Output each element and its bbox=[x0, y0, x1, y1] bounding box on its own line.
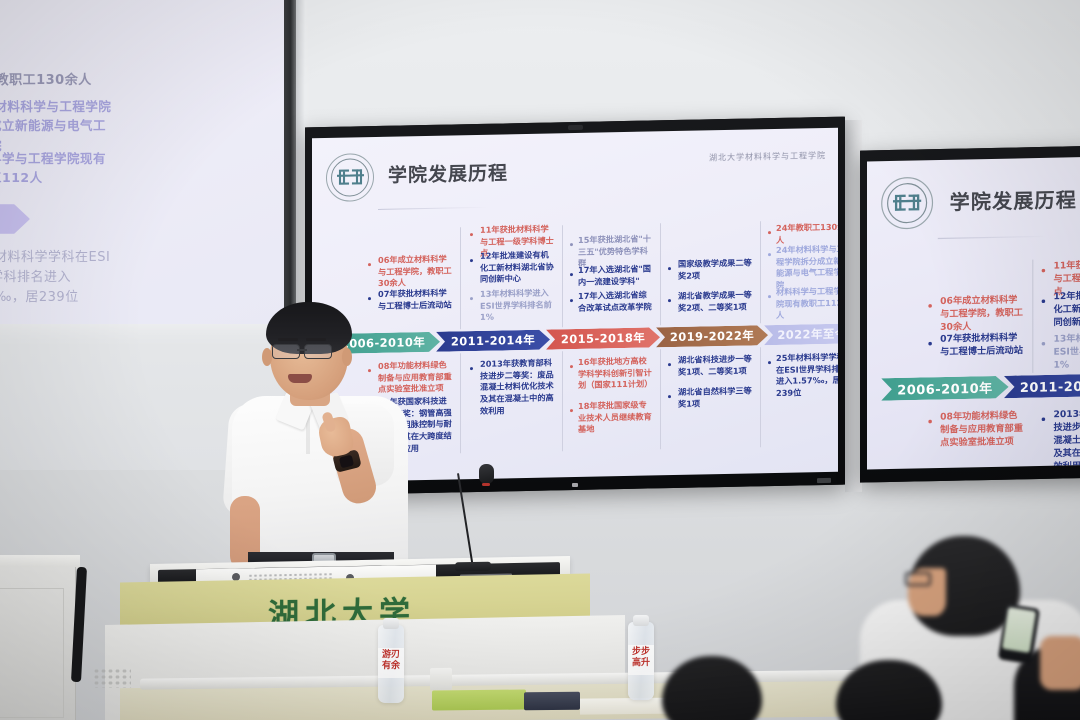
timeline-item: 湖北省教学成果一等奖2项、二等奖1项 bbox=[678, 289, 754, 314]
bottle-cap-right bbox=[633, 615, 649, 626]
camera-sensor-icon bbox=[568, 125, 583, 130]
eyeglasses-left-lens-icon bbox=[272, 344, 300, 359]
bullet-icon bbox=[668, 363, 671, 366]
emblem-glyph-icon bbox=[893, 189, 921, 218]
presenter-mouth bbox=[288, 374, 312, 383]
column-divider bbox=[460, 353, 461, 453]
header-rule bbox=[938, 236, 1047, 239]
bottle-label-text-left: 游刃有余 bbox=[378, 650, 404, 672]
timeline-item: 08年功能材料绿色制备与应用教育部重点实验室批准立项 bbox=[940, 408, 1025, 449]
bullet-icon bbox=[668, 299, 671, 302]
eyeglasses-right-lens-icon bbox=[304, 344, 332, 359]
presentation-slide-mirror: 学院发展历程 06年成立材料科学与工程学院，教职工30余人 07年获批材料科学与… bbox=[867, 157, 1080, 470]
timeline-item: 湖北省自然科学三等奖1项 bbox=[678, 385, 754, 410]
bullet-icon bbox=[570, 299, 573, 302]
microphone-capsule-icon bbox=[479, 464, 494, 484]
timeline-item: 2013年获教育部科技进步二等奖：废品混凝土材料优化技术及其在混凝土中的高效利用 bbox=[1053, 406, 1080, 469]
timeline-item: 17年入选湖北省"国内一流建设学科" bbox=[578, 263, 654, 288]
bullet-icon bbox=[768, 361, 771, 364]
lectern-keypad-icon[interactable] bbox=[93, 668, 131, 688]
bullet-icon bbox=[570, 365, 573, 368]
timeline-band-2015-2018[interactable]: 2015-2018年 bbox=[546, 327, 660, 349]
column-divider bbox=[460, 227, 461, 329]
projection-text-1: 24年教职工130余人 bbox=[0, 71, 113, 91]
timeline-item: 2013年获教育部科技进步二等奖：废品混凝土材料优化技术及其在混凝土中的高效利用 bbox=[480, 357, 556, 417]
timeline-item: 25年材料科学学科在ESI世界学科排名进入1.57‰，居239位 bbox=[776, 352, 838, 400]
bullet-icon bbox=[470, 367, 473, 370]
presenter-ear-left bbox=[262, 348, 272, 366]
timeline-item: 材料科学与工程学院现有教职工112人 bbox=[776, 286, 838, 322]
bullet-icon bbox=[1042, 417, 1046, 421]
bullet-icon bbox=[1042, 342, 1046, 346]
presenter-brow-right bbox=[306, 338, 326, 341]
timeline-band-2022-present[interactable]: 2022年至今 bbox=[764, 323, 838, 345]
timeline-item: 13年材料科学进入ESI世界学科排名前1% bbox=[1053, 331, 1080, 372]
bullet-icon bbox=[928, 304, 932, 308]
presenter-ear-right bbox=[342, 348, 352, 366]
bullet-icon bbox=[928, 420, 932, 424]
notebook-green[interactable] bbox=[432, 690, 526, 711]
projection-text-3: 材料科学与工程学院现有教职工112人 bbox=[0, 149, 113, 188]
timeline-item: 国家级教学成果二等奖2项 bbox=[678, 257, 754, 282]
secondary-display[interactable]: 学院发展历程 06年成立材料科学与工程学院，教职工30余人 07年获批材料科学与… bbox=[860, 145, 1080, 482]
bullet-icon bbox=[570, 273, 573, 276]
bullet-icon bbox=[768, 231, 771, 234]
brand-logo bbox=[817, 478, 831, 483]
timeline-item: 24年教职工130余人 bbox=[776, 222, 838, 247]
timeline-item: 13年材料科学进入ESI世界学科排名前1% bbox=[480, 287, 556, 323]
timeline-item: 湖北省科技进步一等奖1项、二等奖1项 bbox=[678, 353, 754, 378]
bullet-icon bbox=[470, 233, 473, 236]
projection-screen-frame bbox=[284, 0, 296, 315]
bullet-icon bbox=[470, 259, 473, 262]
header-rule bbox=[378, 207, 488, 210]
lecture-hall-photo: 24年教职工130余人 24年材料科学与工程学院拆分成立新能源与电气工程学院 材… bbox=[0, 0, 1080, 720]
bullet-icon bbox=[1042, 269, 1046, 273]
secondary-display-screen: 学院发展历程 06年成立材料科学与工程学院，教职工30余人 07年获批材料科学与… bbox=[867, 157, 1080, 470]
timeline-band-2011-2014[interactable]: 2011-2014年 bbox=[1004, 373, 1080, 398]
bullet-icon bbox=[668, 395, 671, 398]
column-divider bbox=[562, 225, 563, 327]
slide-title: 学院发展历程 bbox=[388, 158, 508, 187]
emblem-glyph-icon bbox=[337, 164, 364, 191]
timeline-item: 16年获批地方高校学科学科创新引智计划（国家111计划） bbox=[578, 355, 654, 391]
timeline-band-2011-2014[interactable]: 2011-2014年 bbox=[436, 330, 550, 352]
slide-org-header: 湖北大学材料科学与工程学院 bbox=[709, 150, 826, 163]
presenter bbox=[228, 300, 413, 600]
projection-screen-frame-edge bbox=[296, 0, 305, 315]
timeline-item: 18年获批国家级专业技术人员继续教育基地 bbox=[578, 399, 654, 435]
bullet-icon bbox=[1042, 299, 1046, 303]
bullet-icon bbox=[570, 243, 573, 246]
timeline-band-2019-2022[interactable]: 2019-2022年 bbox=[656, 325, 768, 347]
microphone-indicator-ring bbox=[482, 483, 490, 486]
bullet-icon bbox=[928, 342, 932, 346]
column-divider bbox=[760, 347, 761, 447]
column-divider bbox=[660, 223, 661, 325]
column-divider bbox=[760, 221, 761, 323]
column-divider bbox=[660, 349, 661, 449]
bottle-cap-left bbox=[383, 618, 399, 629]
bullet-icon bbox=[768, 295, 771, 298]
bullet-icon bbox=[368, 263, 371, 266]
slide-title: 学院发展历程 bbox=[950, 183, 1077, 215]
projection-text-4: 25年材料科学学科在ESI世界学科排名进入1.57‰，居239位 bbox=[0, 248, 113, 308]
timeline-item: 17年入选湖北省综合改革试点改革学院 bbox=[578, 289, 654, 314]
bullet-icon bbox=[668, 267, 671, 270]
audience-hand bbox=[1040, 636, 1080, 690]
timeline-item: 12年批准建设有机化工新材料湖北省协同创新中心 bbox=[1053, 288, 1080, 329]
bullet-icon bbox=[470, 297, 473, 300]
projection-text-2: 24年材料科学与工程学院拆分成立新能源与电气工程学院 bbox=[0, 97, 115, 155]
power-led-icon bbox=[572, 483, 578, 487]
side-cabinet-door[interactable] bbox=[0, 588, 64, 718]
notebook-dark[interactable] bbox=[524, 692, 580, 711]
bullet-icon bbox=[570, 409, 573, 412]
timeline-item: 06年成立材料科学与工程学院，教职工30余人 bbox=[940, 293, 1025, 334]
bottle-label-text-right: 步步高升 bbox=[628, 647, 654, 669]
microphone-base bbox=[455, 562, 491, 572]
bullet-icon bbox=[768, 253, 771, 256]
projection-chevron-current: 2022年至今 bbox=[0, 204, 30, 234]
timeline-item: 12年批准建设有机化工新材料湖北省协同创新中心 bbox=[480, 249, 556, 285]
presenter-brow-left bbox=[278, 338, 298, 341]
timeline-item: 24年材料科学与工程学院拆分成立新能源与电气工程学院 bbox=[776, 244, 838, 292]
wall-projection-screen: 24年教职工130余人 24年材料科学与工程学院拆分成立新能源与电气工程学院 材… bbox=[0, 0, 290, 324]
timeline-item: 06年成立材料科学与工程学院，教职工30余人 bbox=[378, 253, 454, 289]
timeline-band-2006-2010[interactable]: 2006-2010年 bbox=[881, 376, 1008, 401]
eyeglasses-icon bbox=[905, 572, 931, 586]
eyeglasses-bridge-icon bbox=[297, 349, 307, 351]
column-divider bbox=[1032, 260, 1033, 373]
column-divider bbox=[562, 351, 563, 451]
table-rail-bracket bbox=[430, 668, 452, 690]
timeline-item: 07年获批材料科学与工程博士后流动站 bbox=[940, 331, 1025, 359]
